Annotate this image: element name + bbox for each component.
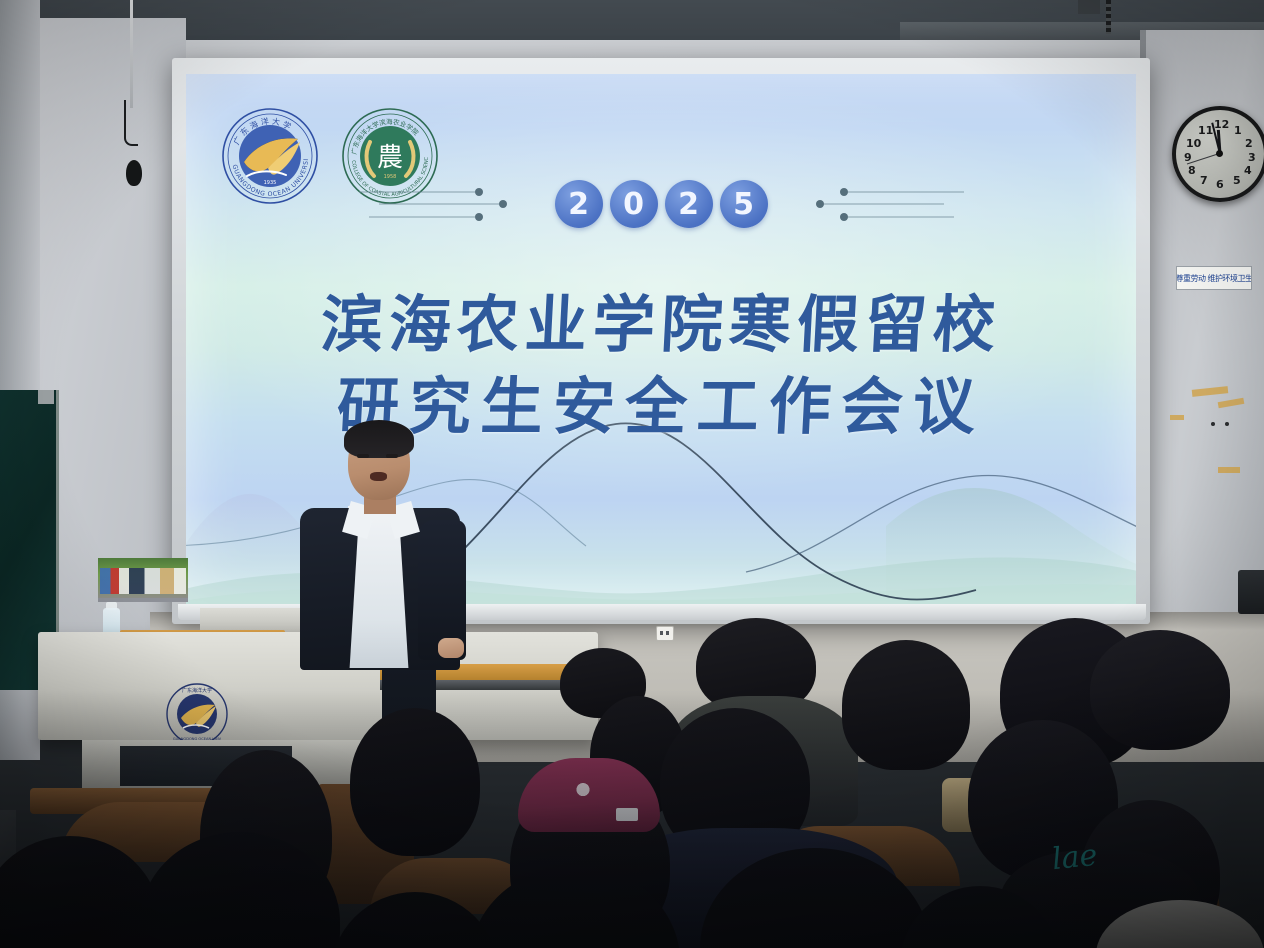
- audience-head: [842, 640, 970, 770]
- clock-numeral: 2: [1245, 137, 1253, 150]
- audience: lae: [0, 600, 1264, 948]
- presenter-mouth: [370, 472, 387, 481]
- wall-nail: [1225, 422, 1229, 426]
- photo-scene: 1935 广 东 海 洋 大 学 GUANGDONG OCEAN UNIVERS…: [0, 0, 1264, 948]
- decorative-lines-right: [790, 178, 970, 230]
- wall-tape: [1218, 467, 1240, 473]
- clock-numeral: 4: [1244, 164, 1252, 177]
- svg-text:農: 農: [377, 143, 403, 173]
- microphone-cable: [124, 100, 138, 146]
- slide-title-line-1: 滨海农业学院寒假留校: [186, 284, 1136, 366]
- cap-buckle: [616, 808, 638, 821]
- year-digit: 2: [555, 180, 603, 228]
- wall-clock: 12 1 2 3 4 5 6 7 8 9 10 11: [1172, 106, 1260, 196]
- year-digit: 0: [610, 180, 658, 228]
- cap-logo-icon: [570, 780, 596, 796]
- clock-numeral: 6: [1216, 178, 1224, 191]
- audience-head: [1090, 630, 1230, 750]
- clock-numeral: 10: [1186, 137, 1201, 150]
- clock-face: 12 1 2 3 4 5 6 7 8 9 10 11: [1172, 106, 1264, 202]
- jacket-script-text: lae: [1050, 838, 1099, 878]
- clock-numeral: 5: [1233, 174, 1241, 187]
- clock-numeral: 1: [1234, 124, 1242, 137]
- audience-head: [350, 708, 480, 856]
- ceiling-mount-box: [1078, 0, 1100, 14]
- microphone-rod: [130, 0, 133, 108]
- wall-notice-sign: 尊重劳动 维护环境卫生: [1176, 266, 1252, 290]
- year-digit: 2: [665, 180, 713, 228]
- clock-numeral: 3: [1248, 151, 1256, 164]
- presenter-hair: [344, 420, 414, 458]
- wall-tape: [1170, 415, 1184, 420]
- year-digit: 5: [720, 180, 768, 228]
- wall-notice-text: 尊重劳动 维护环境卫生: [1176, 273, 1252, 284]
- presenter-eye-right: [386, 454, 398, 458]
- clock-second-hand: [1187, 153, 1220, 164]
- year-badges: 2 0 2 5: [555, 180, 768, 228]
- wall-nail: [1211, 422, 1215, 426]
- hanging-microphone-icon: [126, 160, 142, 186]
- shelf-items: [100, 568, 186, 594]
- clock-numeral: 8: [1188, 164, 1196, 177]
- blackboard-corner-cap: [38, 390, 54, 404]
- clock-numeral: 7: [1200, 174, 1208, 187]
- clock-center-pin: [1216, 150, 1223, 157]
- presenter-eye-left: [357, 454, 369, 458]
- decorative-lines-left: [353, 178, 533, 230]
- ceiling-chain: [1106, 0, 1111, 34]
- slide-year-row: 2 0 2 5: [186, 178, 1136, 230]
